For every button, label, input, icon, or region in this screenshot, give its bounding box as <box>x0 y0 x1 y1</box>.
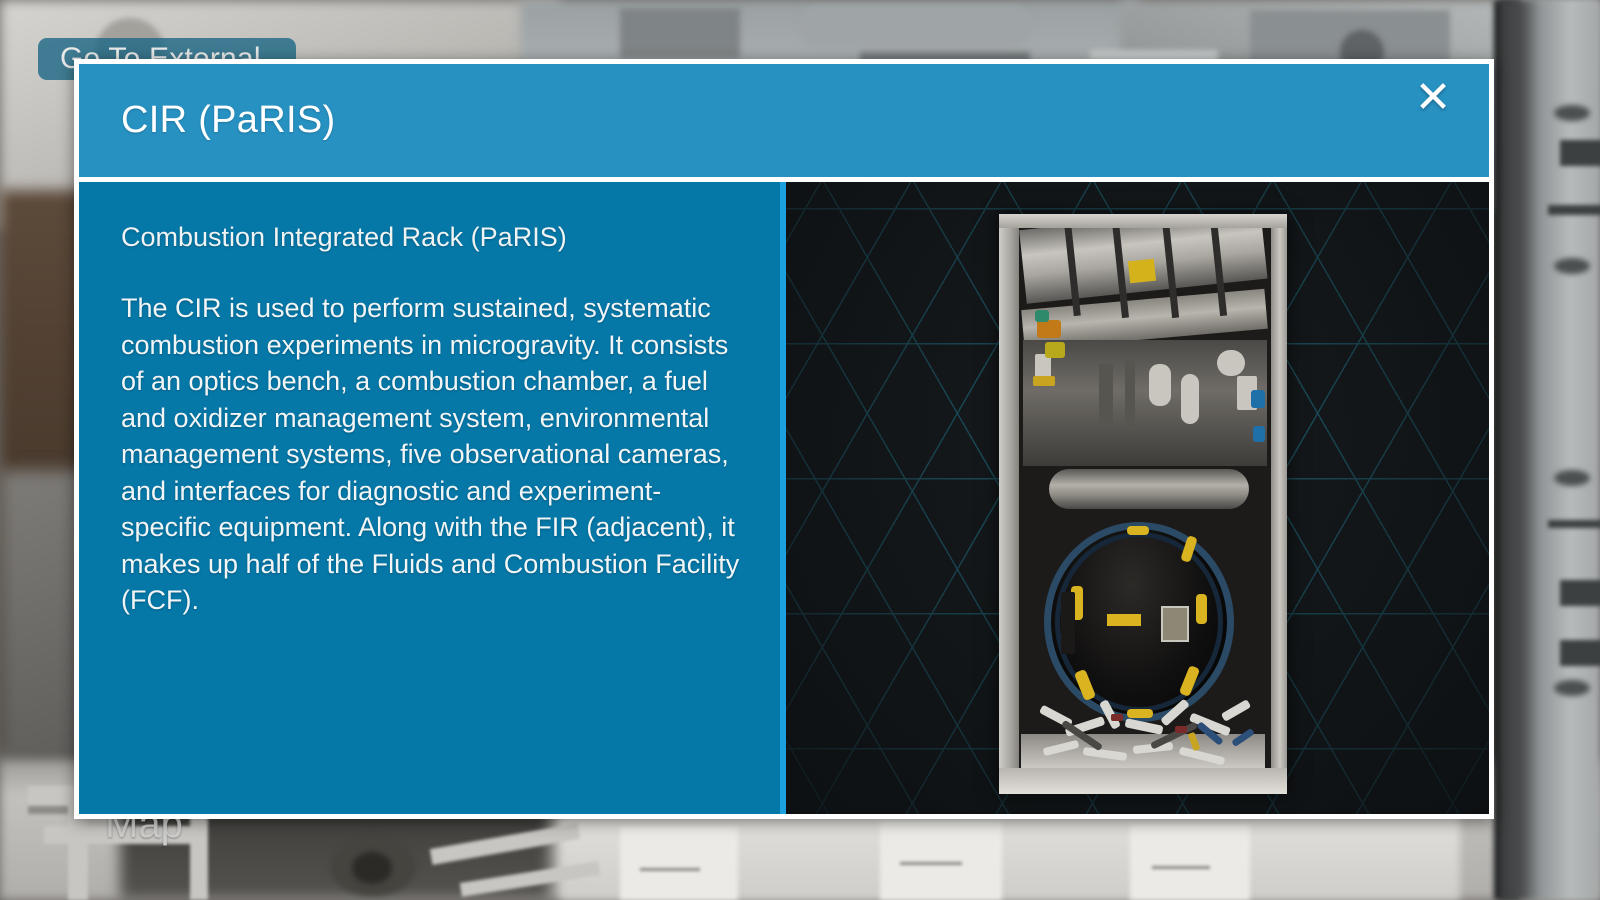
photo-yellow-arc <box>1127 709 1153 718</box>
bg-paper <box>880 820 1002 900</box>
info-modal: CIR (PaRIS) ✕ Combustion Integrated Rack… <box>74 59 1494 819</box>
bg-rack-oval <box>1554 470 1590 486</box>
photo-part <box>1217 350 1245 376</box>
photo-frame-right <box>1271 214 1287 794</box>
bg-rack-rail <box>1548 520 1600 528</box>
image-pane <box>786 182 1489 814</box>
photo-yellow-arc <box>1196 594 1207 624</box>
photo-bracket <box>1061 592 1075 654</box>
bg-vent-circle-inner <box>352 852 392 884</box>
bg-paper-line <box>640 868 700 871</box>
photo-frame-top <box>999 214 1287 228</box>
bg-paper <box>1130 824 1250 900</box>
photo-green-part <box>1035 310 1049 322</box>
photo-cable-red <box>1175 726 1187 733</box>
photo-yellow-label <box>1128 259 1156 284</box>
bg-rack-hatch <box>1560 580 1600 606</box>
photo-sensor-chip <box>1161 606 1189 642</box>
modal-title: CIR (PaRIS) <box>79 99 335 142</box>
photo-frame-bottom <box>999 768 1287 794</box>
bg-module-detail <box>800 6 1030 46</box>
bg-rack-oval <box>1554 258 1590 274</box>
photo-part <box>1149 364 1171 406</box>
bg-rack-oval <box>1554 105 1590 121</box>
description-pane: Combustion Integrated Rack (PaRIS) The C… <box>79 182 786 814</box>
bg-rack-oval <box>1554 680 1590 696</box>
photo-part-dark <box>1099 364 1113 428</box>
bg-paper <box>620 826 738 900</box>
rack-photograph <box>999 214 1287 794</box>
photo-cylinder-lower <box>1049 469 1249 509</box>
bg-module-detail <box>620 8 740 58</box>
modal-header: CIR (PaRIS) ✕ <box>79 64 1489 177</box>
modal-body: Combustion Integrated Rack (PaRIS) The C… <box>79 182 1489 814</box>
photo-cable-yellow <box>1033 376 1055 386</box>
description-heading: Combustion Integrated Rack (PaRIS) <box>121 220 740 254</box>
close-icon[interactable]: ✕ <box>1407 72 1459 124</box>
photo-orange-part <box>1037 320 1061 338</box>
bg-paper-line <box>1152 866 1210 869</box>
photo-part <box>1181 374 1199 424</box>
photo-cable-red <box>1111 714 1123 721</box>
photo-yellow-stripe <box>1107 614 1141 626</box>
photo-yellow-arc <box>1127 526 1149 535</box>
bg-panel-right-column <box>1500 0 1600 900</box>
bg-rack-rail <box>1548 205 1600 215</box>
bg-paper-line <box>900 862 962 865</box>
photo-part-dark <box>1125 360 1135 430</box>
description-body: The CIR is used to perform sustained, sy… <box>121 290 740 619</box>
photo-blue-part <box>1253 426 1265 442</box>
bg-rack-hatch <box>1560 640 1600 666</box>
photo-frame-left <box>999 214 1019 794</box>
photo-yellow-part <box>1045 342 1065 358</box>
photo-blue-part <box>1251 390 1265 408</box>
bg-rack-hatch <box>1560 140 1600 166</box>
